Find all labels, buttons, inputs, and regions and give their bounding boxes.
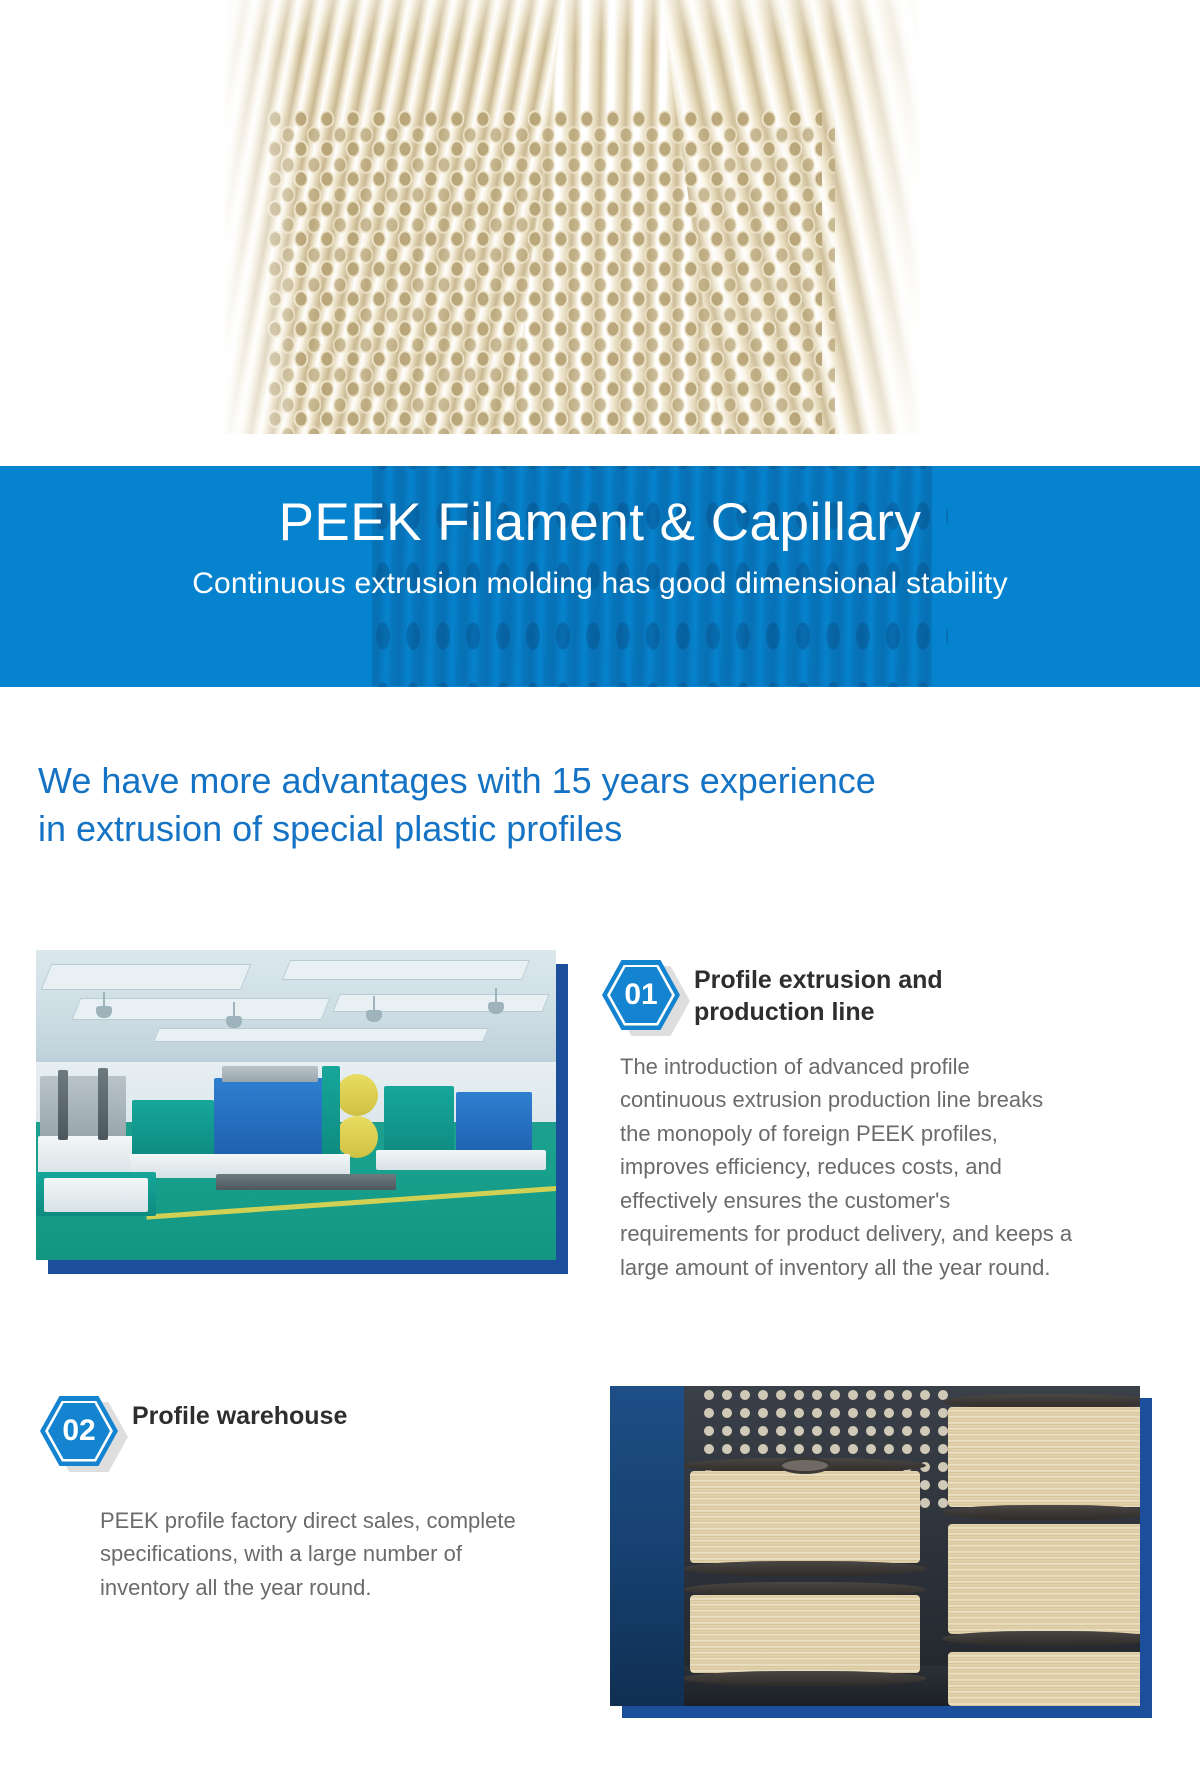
machine-base-left <box>38 1136 134 1176</box>
reel-stand <box>322 1066 340 1158</box>
title-banner: PEEK Filament & Capillary Continuous ext… <box>0 466 1200 687</box>
section-heading-line-1: We have more advantages with 15 years ex… <box>38 757 1168 805</box>
badge-number-01: 01 <box>602 960 680 1030</box>
floor-pallet-dark <box>216 1174 396 1190</box>
feature-block-01: 01 Profile extrusion and production line… <box>0 950 1200 1370</box>
ceiling-lamp-1 <box>96 1006 112 1018</box>
section-heading-line-2: in extrusion of special plastic profiles <box>38 805 1168 853</box>
blue-rack-graphic <box>610 1386 684 1706</box>
hero-product-image <box>222 0 922 434</box>
feature-title-01: Profile extrusion and production line <box>694 958 1072 1028</box>
machine-teal-2 <box>384 1086 454 1158</box>
spool-winding <box>948 1652 1140 1706</box>
hero-top-fade <box>222 0 922 44</box>
spool-mid-right <box>948 1524 1140 1646</box>
ceiling-lamp-3 <box>366 1010 382 1022</box>
hero-section <box>0 0 1200 470</box>
feature-body-01: The introduction of advanced profile con… <box>620 1050 1075 1284</box>
spool-front-left <box>690 1458 920 1576</box>
banner-subtitle: Continuous extrusion molding has good di… <box>0 564 1200 603</box>
hero-left-fade <box>222 0 302 434</box>
coil-reel-1 <box>336 1074 378 1116</box>
spool-winding <box>690 1595 920 1673</box>
production-line-image <box>36 950 556 1260</box>
spool-flange-bottom <box>942 1631 1140 1646</box>
ceiling-duct-3 <box>282 960 530 980</box>
feature-block-02: 02 Profile warehouse PEEK profile factor… <box>0 1380 1200 1780</box>
ceiling-duct-1 <box>41 964 252 990</box>
banner-title: PEEK Filament & Capillary <box>0 494 1200 552</box>
spool-flange-bottom <box>684 1561 926 1576</box>
machine-blue-main <box>214 1078 330 1154</box>
spool-winding <box>948 1524 1140 1634</box>
feature-header-01: 01 Profile extrusion and production line <box>602 958 1072 1030</box>
spool-flange-bottom <box>942 1505 1140 1520</box>
ceiling-lamp-2 <box>226 1016 242 1028</box>
machine-post-1 <box>58 1070 68 1140</box>
ceiling-lamp-4 <box>488 1002 504 1014</box>
warehouse-spools-image <box>610 1386 1140 1706</box>
spool-flange-bottom <box>684 1671 926 1686</box>
ceiling-duct-4 <box>332 994 549 1012</box>
hero-right-fade <box>832 0 922 434</box>
spool-winding <box>690 1471 920 1563</box>
ceiling-duct-5 <box>153 1028 489 1042</box>
feature-body-02: PEEK profile factory direct sales, compl… <box>100 1504 520 1604</box>
coil-reel-2 <box>336 1116 378 1158</box>
machine-frame-left <box>40 1076 126 1138</box>
machine-teal-1 <box>132 1100 214 1158</box>
section-heading: We have more advantages with 15 years ex… <box>38 757 1168 852</box>
feature-title-02: Profile warehouse <box>132 1394 347 1432</box>
tube-cut-ends-offset-graphic <box>275 120 835 434</box>
machine-blue-right <box>456 1092 532 1154</box>
spool-bottom-right <box>948 1648 1140 1706</box>
machine-pallet-2 <box>376 1150 546 1170</box>
hexagon-badge-02: 02 <box>40 1396 118 1466</box>
machine-post-2 <box>98 1068 108 1140</box>
feature-header-02: 02 Profile warehouse <box>40 1394 510 1466</box>
spool-hub <box>779 1457 831 1474</box>
machine-panel-front <box>44 1178 148 1212</box>
spool-top-right <box>948 1394 1140 1520</box>
machine-blue-top <box>222 1066 318 1082</box>
hexagon-badge-01: 01 <box>602 960 680 1030</box>
spool-winding <box>948 1407 1140 1507</box>
badge-number-02: 02 <box>40 1396 118 1466</box>
spool-bottom-left <box>690 1582 920 1686</box>
